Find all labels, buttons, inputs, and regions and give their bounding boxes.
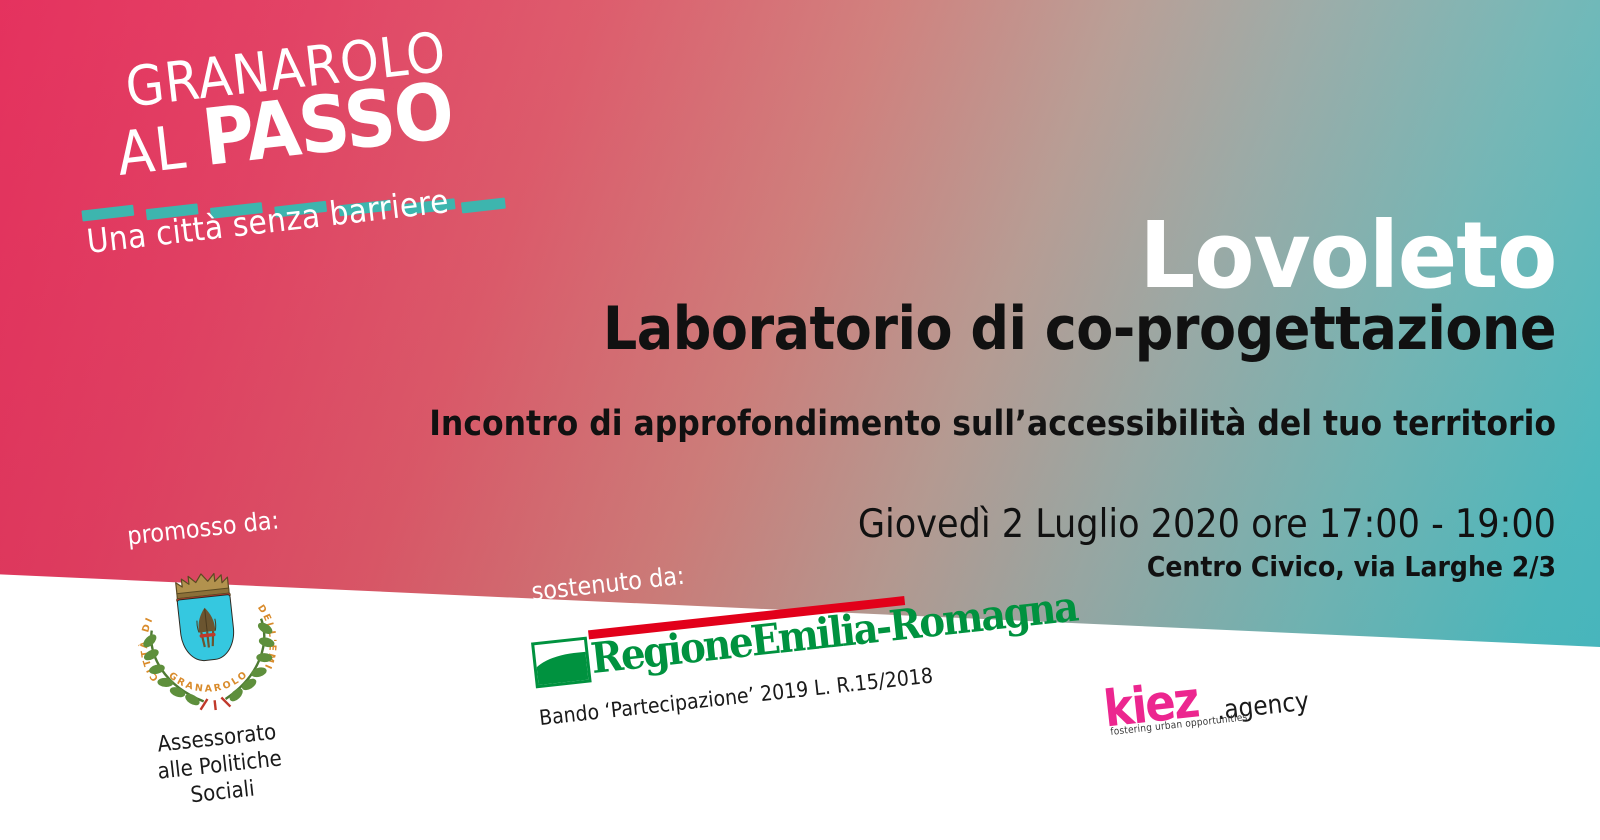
page-subtitle: Incontro di approfondimento sull’accessi… [429, 405, 1556, 444]
credit-promosso-da: promosso da: CITTÀ DI GRANAROLO DELL'EMI… [96, 494, 416, 817]
event-venue: Centro Civico, via Larghe 2/3 [1147, 552, 1556, 581]
event-datetime: Giovedì 2 Luglio 2020 ore 17:00 - 19:00 [858, 505, 1556, 546]
place-name-lovoleto: Lovoleto [1139, 212, 1556, 299]
comune-crest-icon: CITTÀ DI GRANAROLO DELL'EMILIA [126, 561, 291, 726]
regione-wave-mark-icon [531, 637, 592, 689]
page-title: Laboratorio di co-progettazione [603, 298, 1556, 361]
brand-word-al: AL [113, 110, 207, 189]
poster-canvas: GRANAROLO AL PASSO Una città senza barri… [0, 0, 1600, 840]
granarolo-al-passo-logo: GRANAROLO AL PASSO Una città senza barri… [60, 9, 514, 296]
laurel-wreath-icon [139, 611, 282, 717]
